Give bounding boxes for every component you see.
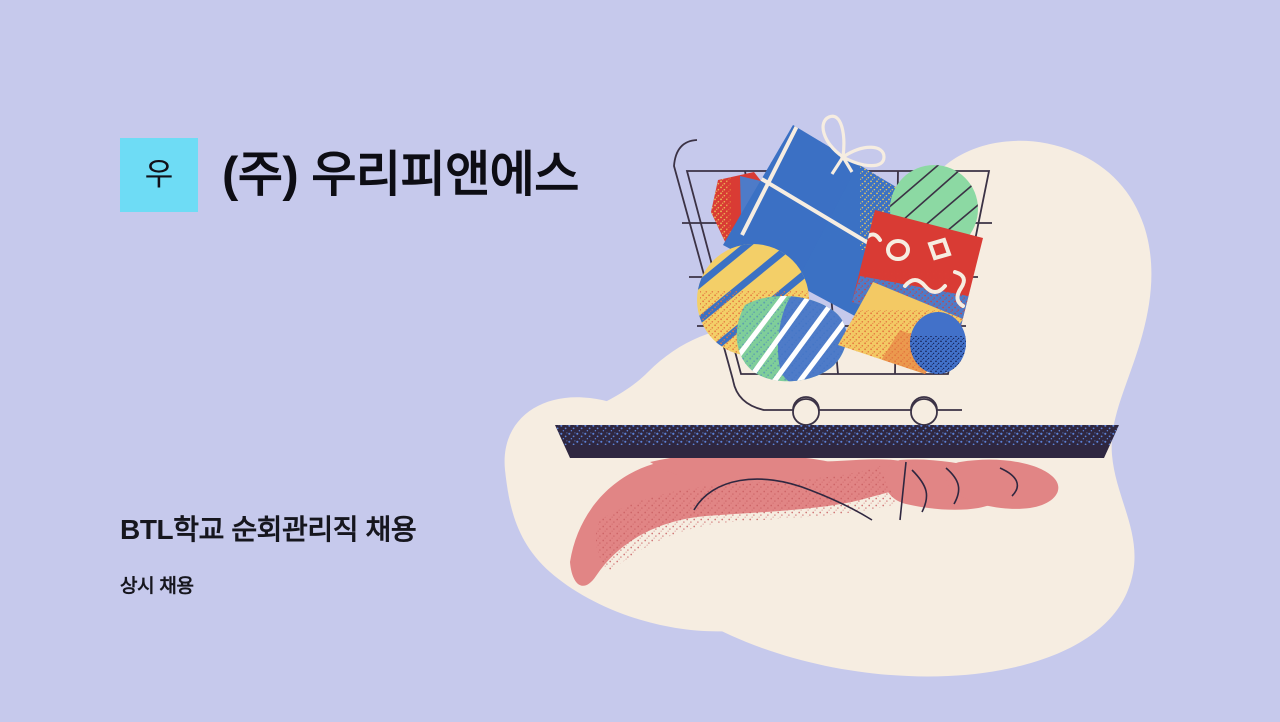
job-title: BTL학교 순회관리직 채용: [120, 513, 416, 547]
hand-holding-shopping-cart-illustration: [0, 0, 1280, 722]
company-name: (주) 우리피앤에스: [222, 151, 579, 200]
cart-wheel-left-hub: [793, 399, 819, 425]
job-posting-card: 우 (주) 우리피앤에스 BTL학교 순회관리직 채용 상시 채용: [0, 0, 1280, 722]
company-initial-badge: 우: [120, 138, 198, 212]
dark-bar: [550, 423, 1130, 458]
cart-wheel-right-hub: [911, 399, 937, 425]
company-header: 우 (주) 우리피앤에스: [120, 138, 579, 212]
job-period: 상시 채용: [120, 576, 194, 599]
company-initial-letter: 우: [145, 160, 174, 191]
